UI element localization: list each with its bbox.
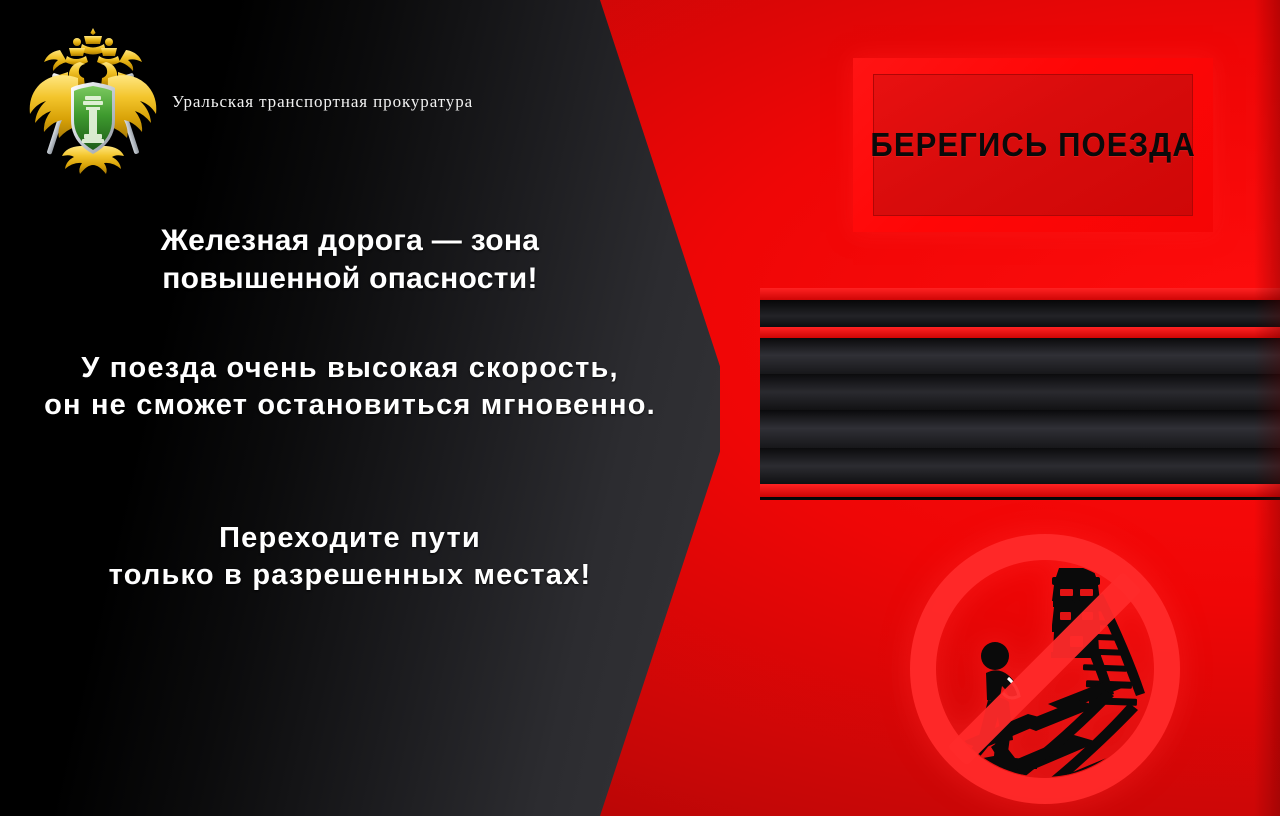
prosecutor-office-emblem — [22, 22, 164, 174]
right-edge-shade — [1254, 0, 1280, 816]
no-crossing-tracks-icon — [900, 528, 1190, 810]
organization-name: Уральская транспортная прокуратура — [172, 92, 473, 112]
poster-canvas: Уральская транспортная прокуратура Желез… — [0, 0, 1280, 816]
sign-inner-panel: БЕРЕГИСЬ ПОЕЗДА — [873, 74, 1193, 216]
sign-label: БЕРЕГИСЬ ПОЕЗДА — [870, 126, 1196, 164]
message-danger-zone: Железная дорога — зона повышенной опасно… — [0, 222, 700, 299]
horizontal-stripe-band — [760, 288, 1280, 500]
beware-of-train-sign: БЕРЕГИСЬ ПОЕЗДА — [853, 58, 1213, 232]
message-train-speed: У поезда очень высокая скорость, он не с… — [0, 350, 700, 424]
message-cross-allowed-places: Переходите пути только в разрешенных мес… — [0, 520, 700, 594]
